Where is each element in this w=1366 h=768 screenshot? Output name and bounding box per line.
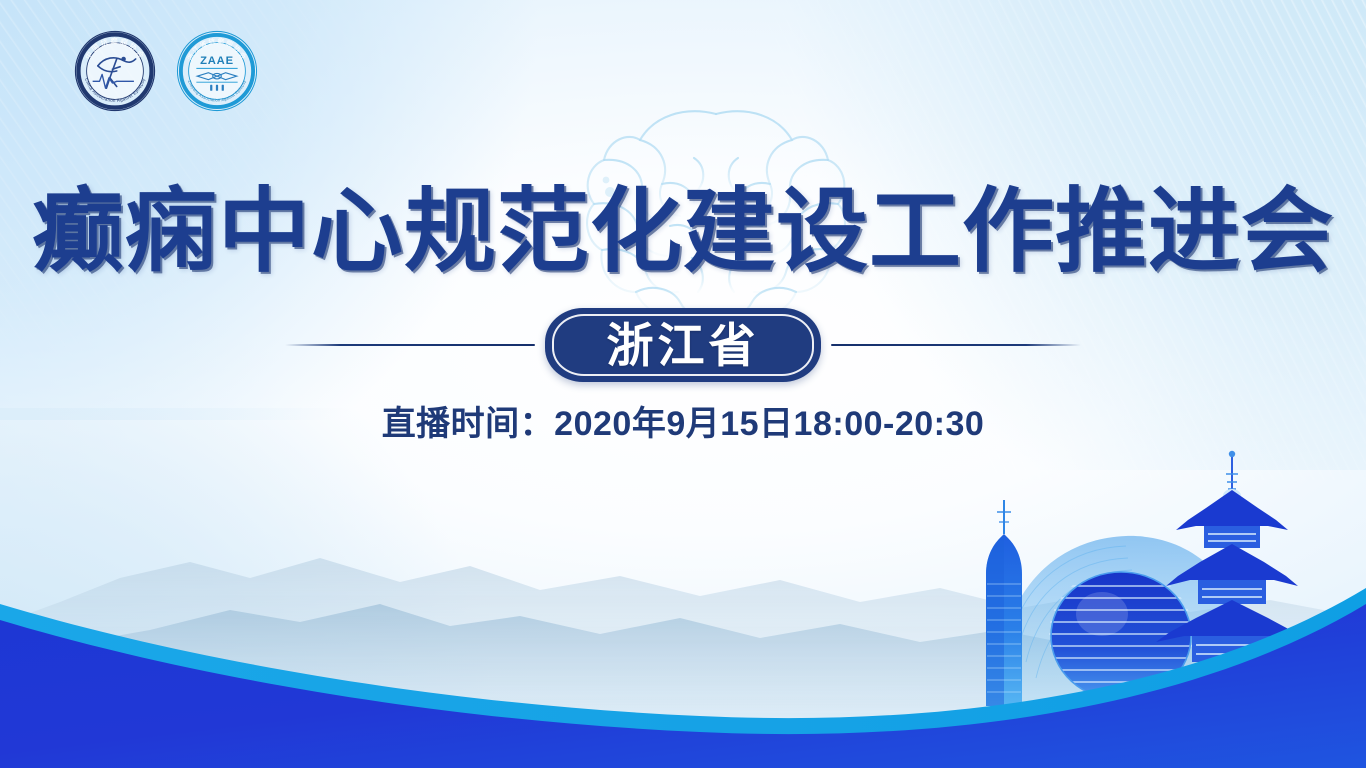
svg-text:ZAAE: ZAAE — [200, 55, 234, 67]
bottom-wave-decoration — [0, 508, 1366, 768]
divider-line-right — [831, 343, 1081, 347]
divider-line-left — [285, 343, 535, 347]
region-badge-label: 浙江省 — [607, 322, 760, 369]
logo-zhejiang-association-against-epilepsy: 浙江省抗癫痫协会 Zhejiang Association Against Ep… — [174, 28, 260, 114]
logo-group: 中国抗癫痫协会 China Association Against Epilep… — [72, 28, 260, 114]
region-badge: 浙江省 — [545, 308, 821, 382]
poster-canvas: 中国抗癫痫协会 China Association Against Epilep… — [0, 0, 1366, 768]
region-badge-row: 浙江省 — [0, 305, 1366, 385]
logo-china-association-against-epilepsy: 中国抗癫痫协会 China Association Against Epilep… — [72, 28, 158, 114]
page-title: 癫痫中心规范化建设工作推进会 — [0, 186, 1366, 278]
